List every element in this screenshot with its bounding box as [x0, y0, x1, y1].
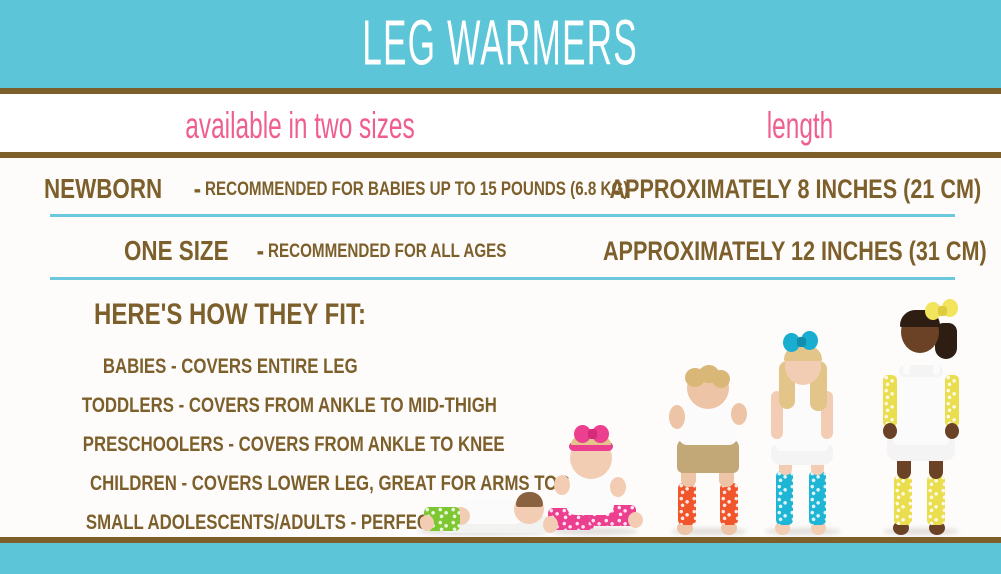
size-description-onesize: RECOMMENDED FOR ALL AGES — [268, 242, 506, 261]
size-name-onesize: ONE SIZE — [124, 237, 229, 265]
leg-warmer-blue-right — [809, 471, 826, 525]
hair-bow-yellow — [925, 299, 959, 323]
fit-section-title: HERE'S HOW THEY FIT: — [94, 300, 366, 330]
footer-band — [0, 543, 1001, 574]
leg-warmer-orange-left — [678, 483, 696, 525]
model-preschooler — [745, 322, 860, 537]
model-child-yellow — [855, 289, 985, 537]
fit-list-item-label: BABIES - COVERS ENTIRE LEG — [103, 356, 358, 377]
size-row-onesize: ONE SIZE - RECOMMENDED FOR ALL AGES APPR… — [0, 220, 1001, 282]
model-baby-lying — [410, 477, 560, 537]
divider-teal-first — [50, 214, 955, 217]
fit-section: HERE'S HOW THEY FIT: BABIES - COVERS ENT… — [30, 300, 430, 551]
length-value-newborn: APPROXIMATELY 8 INCHES (21 CM) — [609, 176, 981, 203]
leg-warmer-yellow-right — [927, 475, 945, 525]
leg-warmer-blue-left — [776, 471, 793, 525]
arm-warmer-yellow-left — [883, 375, 897, 427]
infographic-root: LEG WARMERS available in two sizes lengt… — [0, 0, 1001, 574]
column-header-length: length — [668, 107, 932, 144]
model-baby-sitting — [540, 427, 650, 537]
leg-warmer-yellow-left — [894, 475, 912, 525]
product-photo-group — [400, 288, 1001, 537]
hair-bow-pink — [574, 423, 610, 445]
fit-list-item: SMALL ADOLESCENTS/ADULTS - PERFECT FOR A… — [30, 512, 430, 533]
fit-list-item: BABIES - COVERS ENTIRE LEG — [30, 356, 430, 377]
header-band: LEG WARMERS — [0, 0, 1001, 88]
size-row-newborn: NEWBORN - RECOMMENDED FOR BABIES UP TO 1… — [0, 158, 1001, 220]
size-row-onesize-right: APPROXIMATELY 12 INCHES (31 CM) — [600, 220, 990, 282]
length-value-onesize: APPROXIMATELY 12 INCHES (31 CM) — [603, 238, 987, 265]
fit-list-item: CHILDREN - COVERS LOWER LEG, GREAT FOR A… — [30, 473, 430, 494]
size-dash-onesize: - — [255, 237, 266, 265]
column-header-sizes: available in two sizes — [102, 107, 498, 144]
size-description-newborn: RECOMMENDED FOR BABIES UP TO 15 POUNDS (… — [205, 180, 628, 199]
size-name-newborn: NEWBORN — [44, 175, 162, 203]
size-row-newborn-left: NEWBORN - RECOMMENDED FOR BABIES UP TO 1… — [0, 158, 644, 220]
column-header-row: available in two sizes length — [0, 94, 1001, 152]
fit-list-item: TODDLERS - COVERS FROM ANKLE TO MID-THIG… — [30, 395, 430, 416]
fit-list-item: PRESCHOOLERS - COVERS FROM ANKLE TO KNEE — [30, 434, 430, 455]
size-dash-newborn: - — [192, 175, 203, 203]
arm-warmer-yellow-right — [945, 375, 959, 427]
page-title: LEG WARMERS — [363, 11, 639, 75]
size-row-newborn-right: APPROXIMATELY 8 INCHES (21 CM) — [600, 158, 990, 220]
hair-bow-blue — [783, 331, 819, 355]
divider-teal-second — [50, 277, 955, 280]
leg-warmer-orange-right — [720, 483, 738, 525]
